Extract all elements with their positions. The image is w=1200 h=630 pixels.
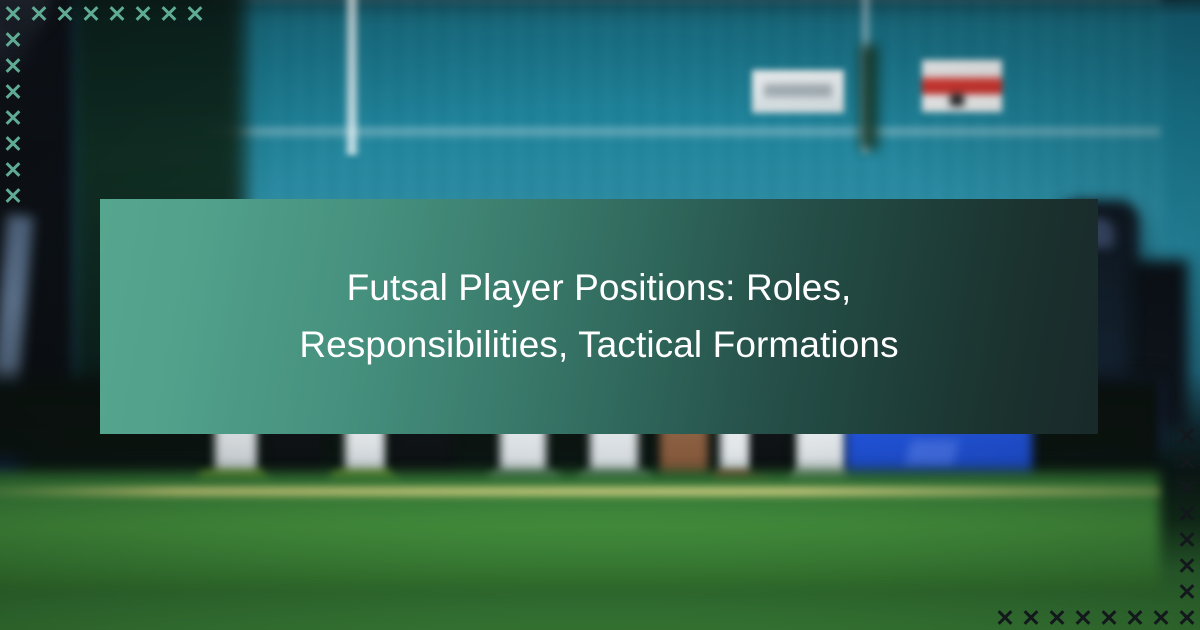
x-mark-icon [1096, 604, 1122, 630]
x-mark-icon [1174, 422, 1200, 448]
x-mark-icon [1174, 448, 1200, 474]
x-mark-icon [0, 78, 26, 104]
x-mark-icon [1174, 500, 1200, 526]
x-mark-icon [1148, 604, 1174, 630]
x-mark-icon [104, 0, 130, 26]
x-mark-icon [182, 0, 208, 26]
x-mark-icon [0, 52, 26, 78]
decoration-x-pattern-top-left [0, 0, 208, 208]
x-mark-icon [0, 26, 26, 52]
page-title: Futsal Player Positions: Roles, Responsi… [279, 260, 919, 372]
x-mark-icon [130, 0, 156, 26]
decoration-x-pattern-bottom-right [992, 422, 1200, 630]
x-mark-icon [26, 0, 52, 26]
x-mark-icon [1044, 604, 1070, 630]
x-mark-icon [1174, 604, 1200, 630]
x-mark-icon [78, 0, 104, 26]
x-mark-icon [1174, 474, 1200, 500]
x-mark-icon [1174, 578, 1200, 604]
x-mark-icon [1122, 604, 1148, 630]
x-mark-icon [0, 182, 26, 208]
x-mark-icon [1174, 526, 1200, 552]
x-mark-icon [52, 0, 78, 26]
x-mark-icon [1174, 552, 1200, 578]
x-mark-icon [156, 0, 182, 26]
x-mark-icon [0, 0, 26, 26]
x-mark-icon [1018, 604, 1044, 630]
x-mark-icon [0, 104, 26, 130]
title-card: Futsal Player Positions: Roles, Responsi… [100, 199, 1098, 434]
share-card-canvas: Futsal Player Positions: Roles, Responsi… [0, 0, 1200, 630]
x-mark-icon [992, 604, 1018, 630]
x-mark-icon [0, 130, 26, 156]
x-mark-icon [1070, 604, 1096, 630]
x-mark-icon [0, 156, 26, 182]
